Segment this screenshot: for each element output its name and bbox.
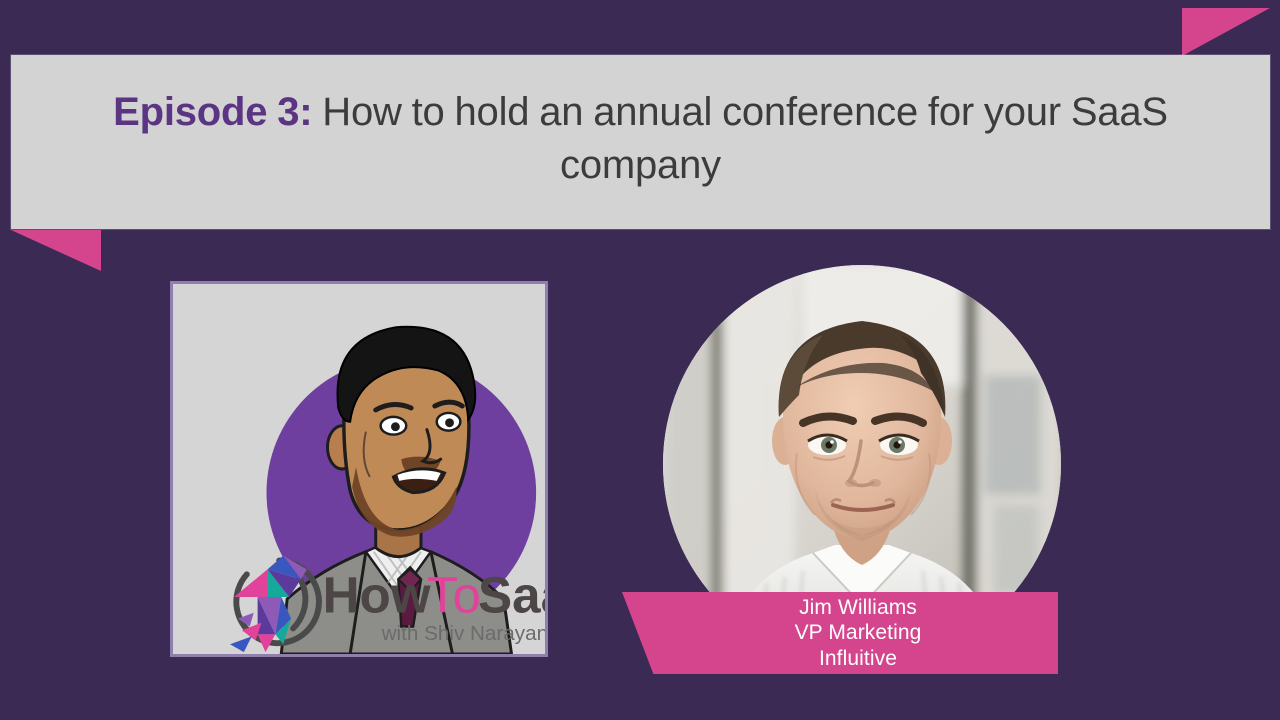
cover-tagline: with Shiv Narayanan	[381, 622, 545, 645]
episode-label: Episode 3:	[113, 90, 312, 134]
podcast-cover-card: How To SaaS with Shiv Narayanan	[170, 281, 548, 657]
title-banner: Episode 3: How to hold an annual confere…	[11, 55, 1270, 229]
episode-title-rest: How to hold an annual conference for you…	[312, 90, 1168, 187]
episode-title: Episode 3: How to hold an annual confere…	[81, 86, 1200, 192]
speaker-company: Influitive	[819, 646, 897, 672]
podcast-cover-artwork: How To SaaS with Shiv Narayanan	[173, 284, 545, 654]
slide-canvas: Episode 3: How to hold an annual confere…	[0, 0, 1280, 720]
cover-wordmark-saas: SaaS	[478, 567, 545, 624]
accent-triangle-bottom-left	[11, 230, 101, 271]
speaker-name: Jim Williams	[799, 595, 917, 621]
speaker-role: VP Marketing	[795, 620, 922, 646]
cover-wordmark-to: To	[427, 567, 481, 624]
cover-wordmark-how: How	[323, 567, 431, 624]
speaker-name-banner: Jim Williams VP Marketing Influitive	[622, 592, 1058, 674]
accent-triangle-top-right	[1182, 8, 1270, 56]
